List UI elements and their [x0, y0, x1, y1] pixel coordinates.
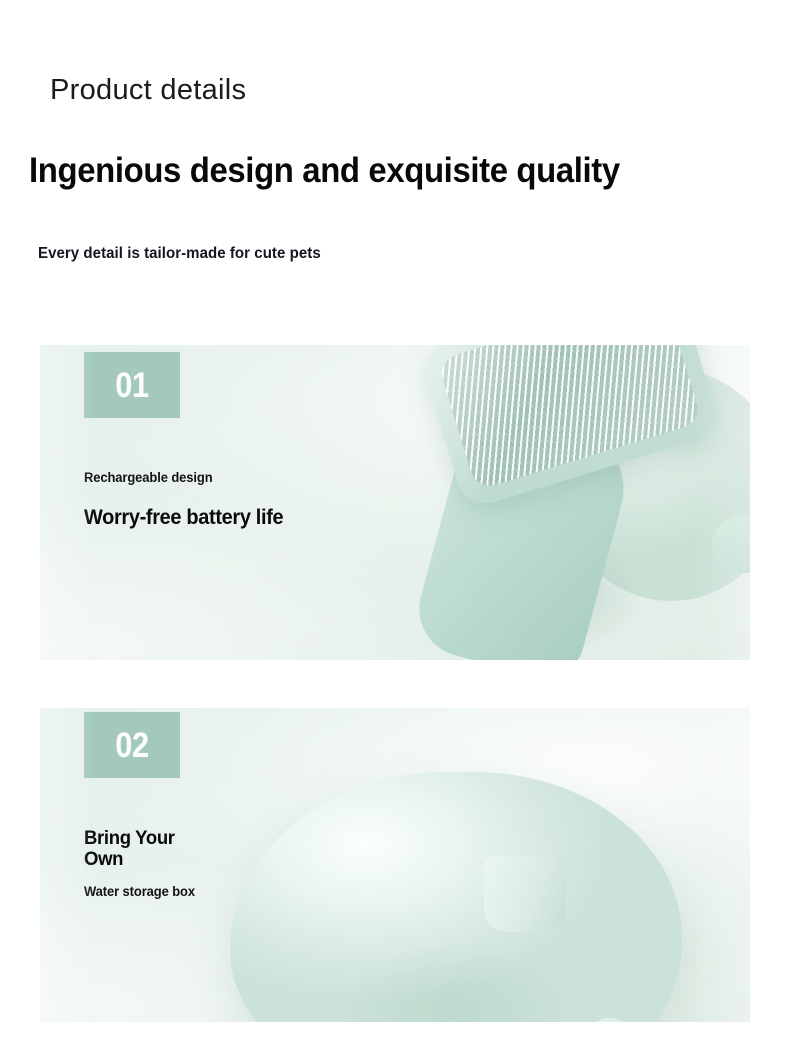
- card-title: Worry-free battery life: [84, 507, 283, 529]
- feature-card-02: 02 Bring Your Own Water storage box: [40, 708, 750, 1022]
- cap-collar-shape: [484, 856, 566, 932]
- card-number-badge-02: 02: [84, 712, 180, 778]
- page-subtitle: Every detail is tailor-made for cute pet…: [38, 246, 321, 262]
- card-kicker: Rechargeable design: [84, 471, 285, 485]
- card-number-badge-01: 01: [84, 352, 180, 418]
- card-number-label: 01: [115, 368, 148, 403]
- card-title: Bring Your Own: [84, 828, 194, 869]
- page-eyebrow: Product details: [50, 76, 246, 105]
- card-number-label: 02: [115, 728, 148, 763]
- card-text-block-02: Bring Your Own Water storage box: [84, 816, 200, 899]
- card-sub-kicker: Water storage box: [84, 885, 195, 899]
- feature-card-01: 01 Rechargeable design Worry-free batter…: [40, 345, 750, 660]
- page-title: Ingenious design and exquisite quality: [29, 153, 620, 190]
- card-text-block-01: Rechargeable design Worry-free battery l…: [84, 471, 294, 529]
